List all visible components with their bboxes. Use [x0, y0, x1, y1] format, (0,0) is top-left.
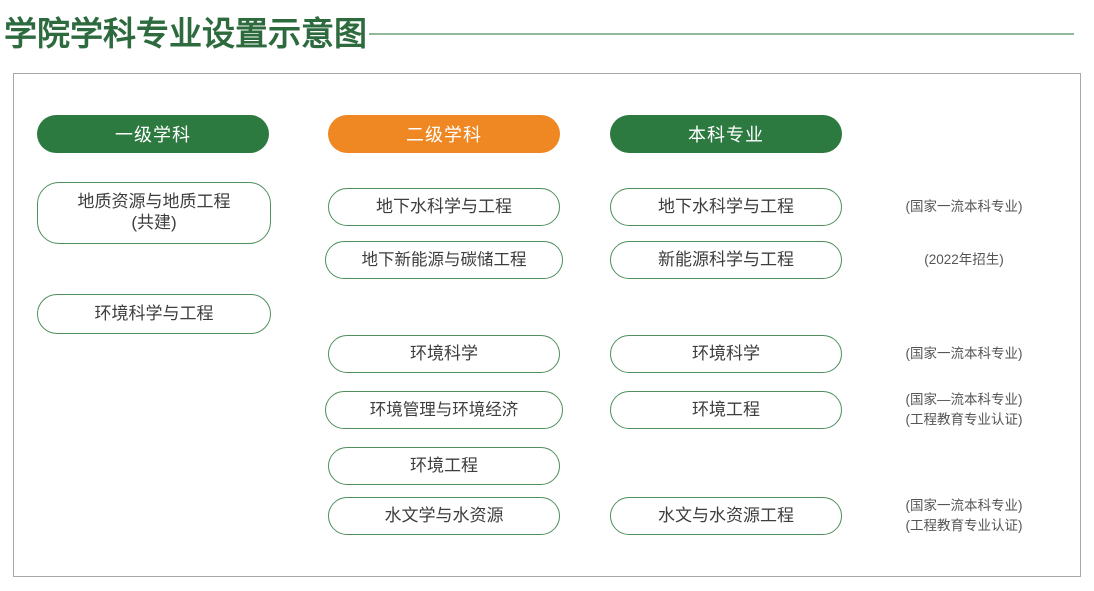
secondary-discipline-underground-new-energy-carbon-storage: 地下新能源与碳储工程 [325, 241, 563, 279]
secondary-discipline-groundwater-science: 地下水科学与工程 [328, 188, 560, 226]
page-title: 学院学科专业设置示意图 [0, 17, 367, 50]
secondary-discipline-environmental-engineering: 环境工程 [328, 447, 560, 485]
annotation-groundwater-major: (国家一流本科专业) [868, 197, 1060, 217]
column-header-undergraduate-major: 本科专业 [610, 115, 842, 153]
secondary-discipline-hydrology-water-resources: 水文学与水资源 [328, 497, 560, 535]
undergraduate-major-environmental-engineering: 环境工程 [610, 391, 842, 429]
title-bar: 学院学科专业设置示意图 [0, 6, 1094, 60]
secondary-discipline-environmental-science: 环境科学 [328, 335, 560, 373]
undergraduate-major-environmental-science: 环境科学 [610, 335, 842, 373]
primary-discipline-geological-resources: 地质资源与地质工程 (共建) [37, 182, 271, 244]
column-header-secondary-discipline: 二级学科 [328, 115, 560, 153]
annotation-hydrology-water-resources-major: (国家一流本科专业) (工程教育专业认证) [868, 496, 1060, 535]
annotation-environmental-engineering-major: (国家—流本科专业) (工程教育专业认证) [868, 390, 1060, 429]
secondary-discipline-environmental-management-economics: 环境管理与环境经济 [325, 391, 563, 429]
column-header-primary-discipline: 一级学科 [37, 115, 269, 153]
annotation-new-energy-major: (2022年招生) [868, 250, 1060, 270]
undergraduate-major-hydrology-water-resources-engineering: 水文与水资源工程 [610, 497, 842, 535]
title-divider-rule [369, 33, 1074, 35]
annotation-environmental-science-major: (国家一流本科专业) [868, 344, 1060, 364]
primary-discipline-environmental-science-engineering: 环境科学与工程 [37, 294, 271, 334]
undergraduate-major-groundwater-science: 地下水科学与工程 [610, 188, 842, 226]
undergraduate-major-new-energy-science: 新能源科学与工程 [610, 241, 842, 279]
